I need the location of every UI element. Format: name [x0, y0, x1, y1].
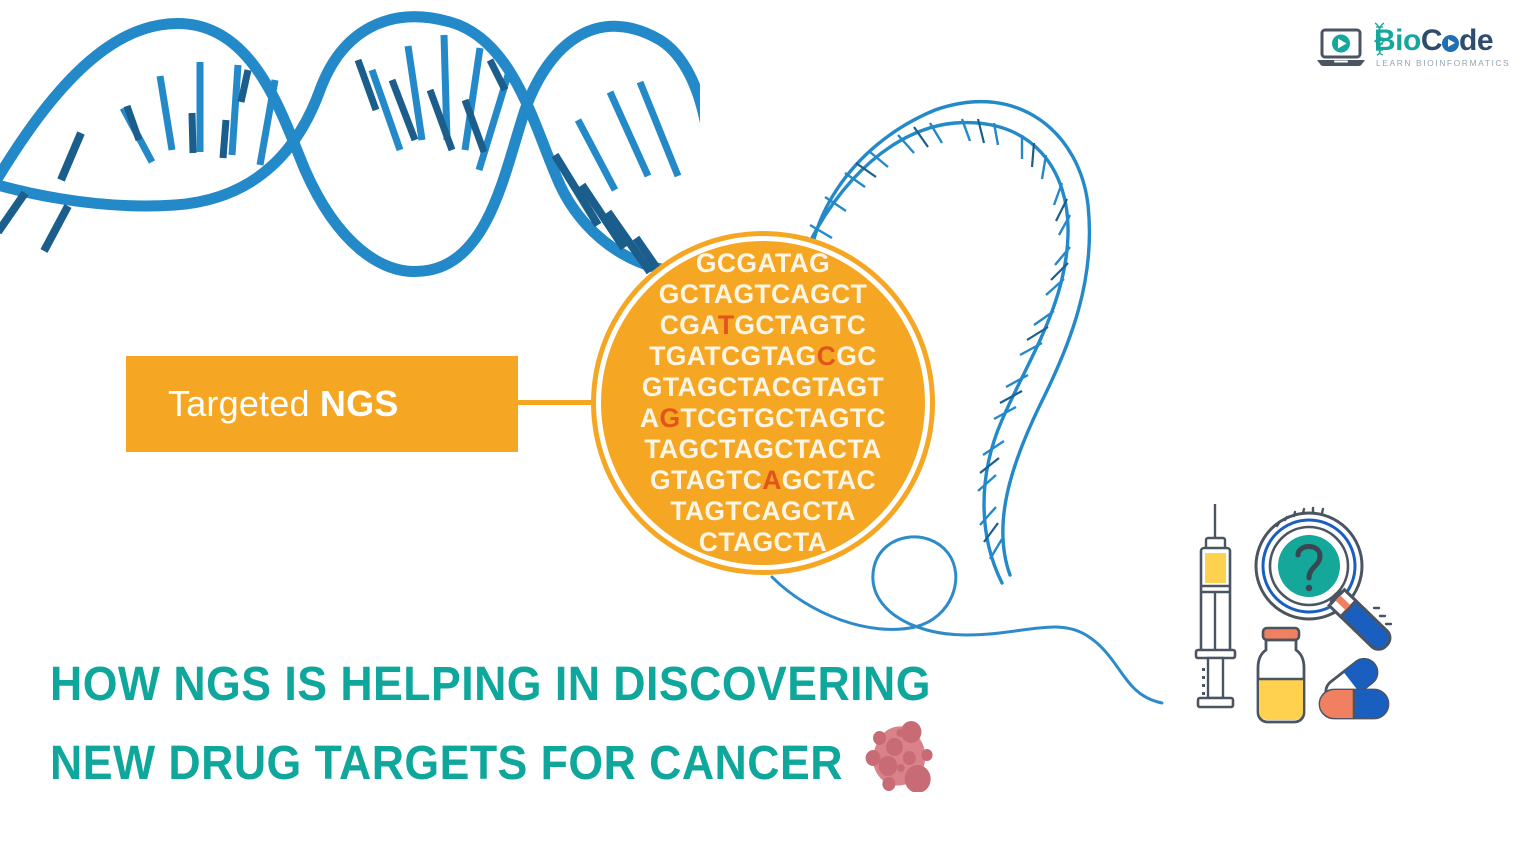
poster-canvas: Targeted NGS GCGATAGGCTAGTCAGCTCGATGCTAG…: [0, 0, 1536, 864]
mutation-base: A: [762, 465, 782, 495]
mutation-base: T: [718, 310, 735, 340]
dna-sequence-row: CGATGCTAGTC: [660, 310, 867, 341]
callout-label-bold: NGS: [320, 383, 399, 424]
sequence-bases: TGATCGTAG: [649, 341, 816, 371]
title-line-2-text: NEW DRUG TARGETS FOR CANCER: [50, 731, 843, 797]
logo-code-text-rest: de: [1459, 26, 1493, 56]
targeted-ngs-callout[interactable]: Targeted NGS: [126, 356, 518, 452]
title-line-1: HOW NGS IS HELPING IN DISCOVERING: [50, 652, 999, 718]
capsule-pills-icon: [1320, 654, 1388, 718]
dna-sequence-row: CTAGCTA: [699, 527, 827, 558]
sequence-bases: CGA: [660, 310, 718, 340]
dna-sequence-circle: GCGATAGGCTAGTCAGCTCGATGCTAGTCTGATCGTAGCG…: [596, 236, 930, 570]
sequence-bases: GCTAC: [782, 465, 876, 495]
logo-bio-text: Bio: [1374, 26, 1421, 56]
mutation-base: G: [659, 403, 680, 433]
syringe-icon: [1196, 504, 1235, 707]
dna-sequence-row: GCGATAG: [696, 248, 830, 279]
sequence-bases: CTAGCTA: [699, 527, 827, 557]
dna-sequence-row: TAGCTAGCTACTA: [644, 434, 881, 465]
logo-code-text-first: C: [1421, 26, 1442, 56]
dna-double-helix-icon: [0, 0, 700, 325]
title-line-2: NEW DRUG TARGETS FOR CANCER: [50, 718, 999, 810]
title-line-1-text: HOW NGS IS HELPING IN DISCOVERING: [50, 652, 931, 718]
targeted-ngs-label: Targeted NGS: [168, 383, 399, 425]
brand-logo[interactable]: BioCde LEARN BIOINFORMATICS: [1316, 18, 1516, 76]
play-icon: [1442, 35, 1459, 52]
sequence-bases: GCTAGTCAGCT: [659, 279, 868, 309]
sequence-bases: TCGTGCTAGTC: [680, 403, 886, 433]
dna-sequence-row: GTAGTCAGCTAC: [650, 465, 876, 496]
sequence-bases: GTAGTC: [650, 465, 762, 495]
sequence-bases: GTAGCTACGTAGT: [642, 372, 884, 402]
dna-sequence-row: GTAGCTACGTAGT: [642, 372, 884, 403]
sequence-bases: GCTAGTC: [734, 310, 866, 340]
dna-sequence-row: GCTAGTCAGCT: [659, 279, 868, 310]
sequence-bases: A: [640, 403, 660, 433]
dna-sequence-row: AGTCGTGCTAGTC: [640, 403, 886, 434]
page-title: HOW NGS IS HELPING IN DISCOVERING NEW DR…: [50, 652, 1070, 810]
medicine-vial-icon: [1258, 628, 1304, 722]
callout-connector-line: [518, 400, 598, 405]
sequence-bases: GC: [836, 341, 877, 371]
sequence-bases: TAGCTAGCTACTA: [644, 434, 881, 464]
callout-label-regular: Targeted: [168, 383, 320, 424]
medical-icons-group: [1182, 498, 1432, 743]
logo-tagline: LEARN BIOINFORMATICS: [1376, 59, 1510, 68]
mutation-base: C: [817, 341, 837, 371]
dna-sequence-row: TAGTCAGCTA: [670, 496, 856, 527]
sequence-bases: TAGTCAGCTA: [670, 496, 856, 526]
logo-wordmark: BioCde: [1374, 26, 1493, 56]
laptop-play-icon: [1316, 27, 1366, 67]
logo-text: BioCde LEARN BIOINFORMATICS: [1374, 26, 1510, 68]
sequence-bases: GCGATAG: [696, 248, 830, 278]
cancer-cell-icon: [860, 718, 934, 810]
dna-sequence-row: TGATCGTAGCGC: [649, 341, 877, 372]
